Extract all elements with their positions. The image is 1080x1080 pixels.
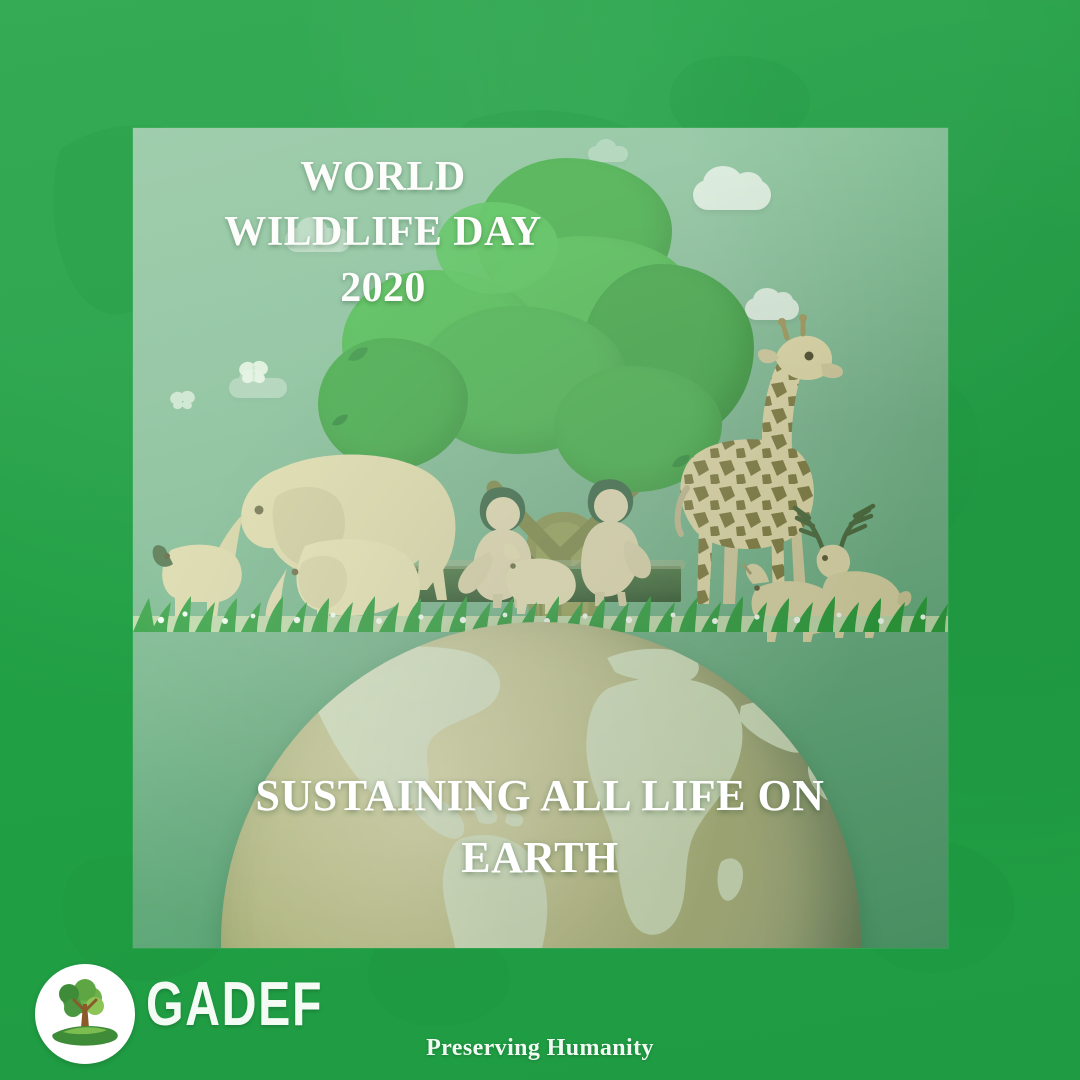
- child-right-illustration: [557, 474, 667, 606]
- butterfly-icon-2: [169, 390, 197, 417]
- tagline-text: SUSTAINING ALL LIFE ON EARTH: [180, 765, 900, 890]
- footer-bar: GADEF Preserving Humanity: [0, 948, 1080, 1080]
- cloud-icon-2: [745, 298, 799, 320]
- leaf-icon: [330, 412, 350, 428]
- butterfly-icon-1: [237, 360, 271, 391]
- leaf-icon: [346, 344, 370, 364]
- brand-name: GADEF: [146, 974, 323, 1036]
- brand-slogan: Preserving Humanity: [0, 1035, 1080, 1062]
- page-title: WORLD WILDLIFE DAY 2020: [133, 150, 633, 316]
- poster-canvas: WORLD WILDLIFE DAY 2020 SUSTAINING ALL L…: [0, 0, 1080, 1080]
- tagline-line-1: SUSTAINING ALL LIFE ON: [180, 765, 900, 827]
- tagline-line-2: EARTH: [180, 827, 900, 889]
